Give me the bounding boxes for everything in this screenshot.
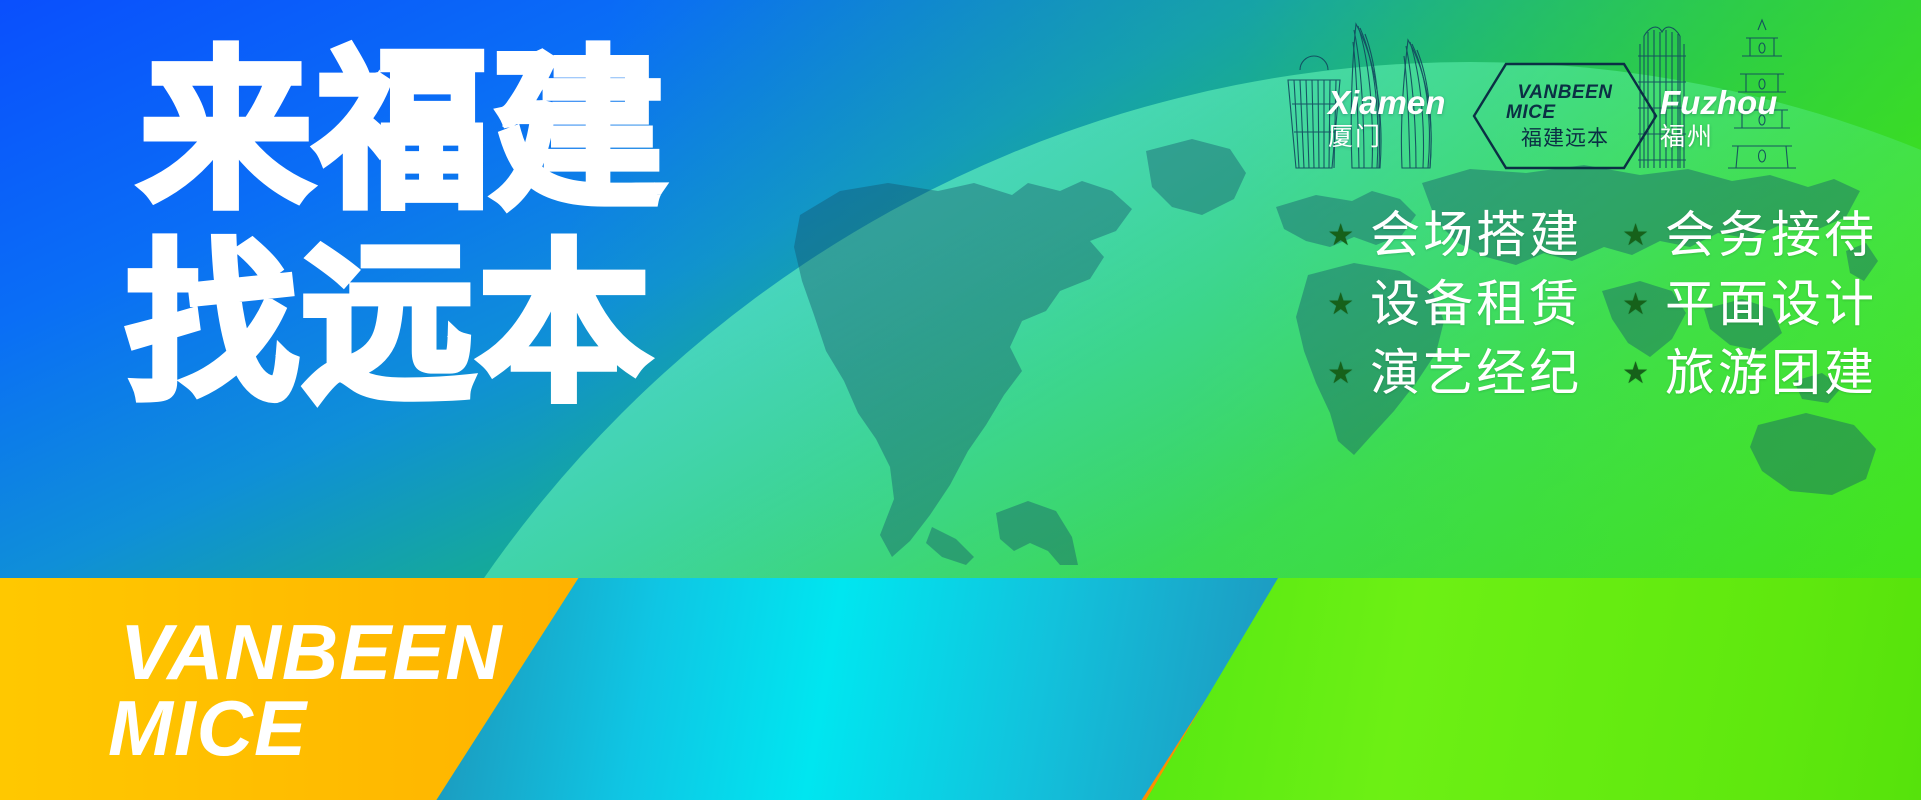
service-item: ★ 平面设计 xyxy=(1622,275,1877,334)
headline-line-2: 找远本 xyxy=(126,229,668,422)
hexagon-badge-text: VANBEEN MICE 福建远本 xyxy=(1470,60,1660,172)
hexagon-badge-icon: VANBEEN MICE 福建远本 xyxy=(1470,60,1660,172)
city-name-cn-fuzhou: 福州 xyxy=(1660,124,1777,149)
service-item: ★ 会场搭建 xyxy=(1327,206,1582,265)
badge-name-cn: 福建远本 xyxy=(1521,127,1609,149)
service-label: 会务接待 xyxy=(1665,206,1877,265)
service-item: ★ 演艺经纪 xyxy=(1327,344,1582,403)
brand-wordmark: VANBEEN MICE xyxy=(120,614,503,767)
city-name-en-xiamen: Xiamen xyxy=(1328,86,1445,119)
footer-bar: VANBEEN MICE xyxy=(0,578,1921,800)
star-icon: ★ xyxy=(1622,221,1649,251)
hero-section: 来福建 找远本 xyxy=(0,0,1921,578)
promotional-banner: 来福建 找远本 xyxy=(0,0,1921,800)
service-label: 旅游团建 xyxy=(1665,344,1877,403)
footer-teal-wedge xyxy=(430,578,1290,800)
service-item: ★ 设备租赁 xyxy=(1327,275,1582,334)
city-name-en-fuzhou: Fuzhou xyxy=(1660,86,1777,119)
city-label-xiamen: Xiamen 厦门 xyxy=(1328,86,1445,149)
service-label: 会场搭建 xyxy=(1370,206,1582,265)
badge-wordmark-line-2: MICE xyxy=(1506,103,1556,123)
service-label: 平面设计 xyxy=(1665,275,1877,334)
page-title: 来福建 找远本 xyxy=(140,36,668,421)
service-label: 演艺经纪 xyxy=(1370,344,1582,403)
city-name-cn-xiamen: 厦门 xyxy=(1328,124,1445,149)
services-list: ★ 会场搭建 ★ 会务接待 ★ 设备租赁 ★ 平面设计 ★ 演艺经纪 ★ 旅游团… xyxy=(1327,206,1877,403)
brand-wordmark-line-2: MICE xyxy=(108,690,503,766)
star-icon: ★ xyxy=(1622,290,1649,320)
headline-line-1: 来福建 xyxy=(140,36,668,229)
badge-wordmark-line-1: VANBEEN xyxy=(1518,83,1613,103)
star-icon: ★ xyxy=(1327,290,1354,320)
brand-wordmark-line-1: VANBEEN xyxy=(120,614,503,690)
city-brand-cluster: Xiamen 厦门 Fuzhou 福州 VANBEEN MICE 福建远本 xyxy=(1280,8,1900,183)
star-icon: ★ xyxy=(1327,221,1354,251)
city-label-fuzhou: Fuzhou 福州 xyxy=(1660,86,1777,149)
service-label: 设备租赁 xyxy=(1370,275,1582,334)
service-item: ★ 会务接待 xyxy=(1622,206,1877,265)
star-icon: ★ xyxy=(1327,359,1354,389)
star-icon: ★ xyxy=(1622,359,1649,389)
service-item: ★ 旅游团建 xyxy=(1622,344,1877,403)
